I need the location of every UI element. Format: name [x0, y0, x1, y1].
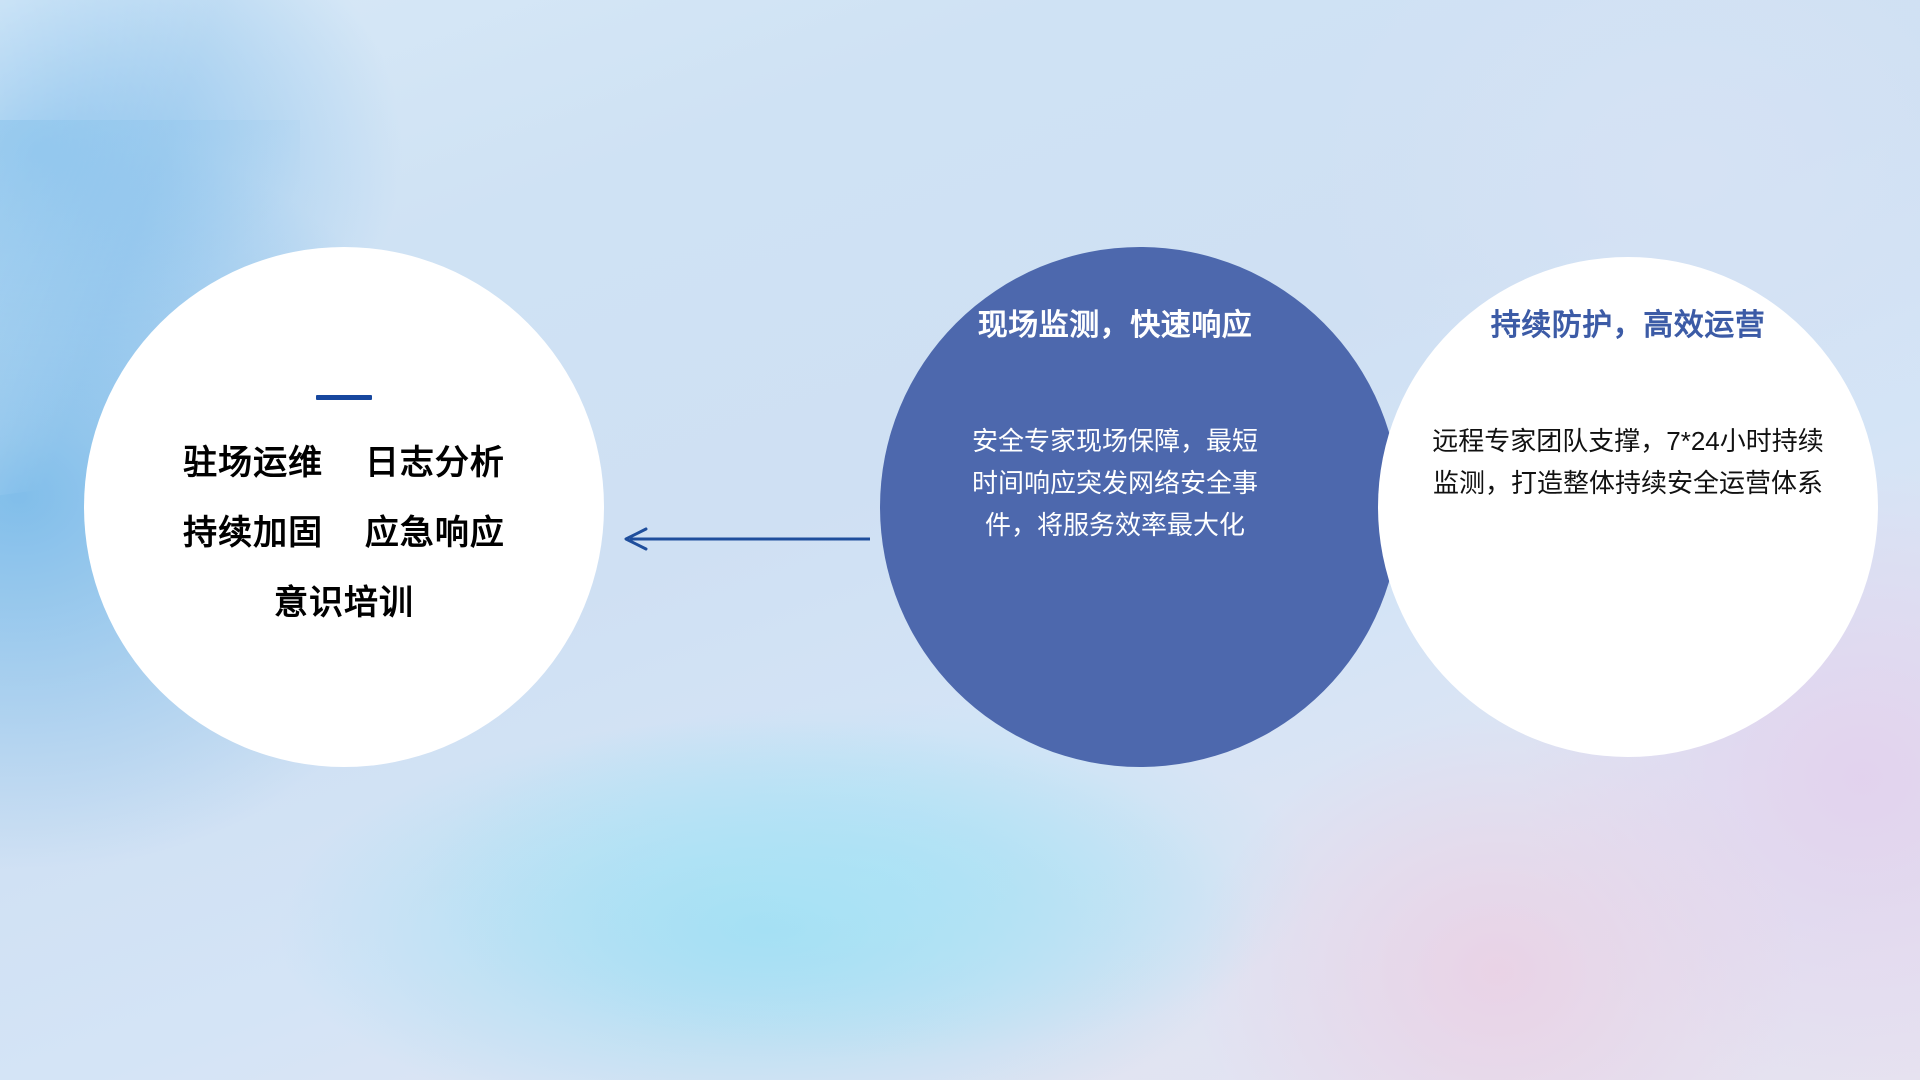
left-circle-line-1: 驻场运维 日志分析 — [183, 446, 505, 480]
left-circle-line-2: 持续加固 应急响应 — [183, 516, 505, 550]
left-divider-dash — [316, 395, 372, 400]
left-circle-content: 驻场运维 日志分析 持续加固 应急响应 意识培训 — [84, 247, 604, 767]
slide-canvas: 驻场运维 日志分析 持续加固 应急响应 意识培训 现场监测，快速响应 安全专家现… — [0, 0, 1920, 1080]
right-circle-content: 持续防护，高效运营 远程专家团队支撑，7*24小时持续监测，打造整体持续安全运营… — [1398, 300, 1858, 504]
center-circle-body: 安全专家现场保障，最短时间响应突发网络安全事件，将服务效率最大化 — [965, 420, 1265, 546]
arrow-left-icon — [612, 525, 872, 553]
right-circle-body: 远程专家团队支撑，7*24小时持续监测，打造整体持续安全运营体系 — [1428, 420, 1828, 504]
right-circle-title: 持续防护，高效运营 — [1398, 300, 1858, 344]
center-circle-content: 现场监测，快速响应 安全专家现场保障，最短时间响应突发网络安全事件，将服务效率最… — [905, 300, 1325, 546]
center-circle-title: 现场监测，快速响应 — [905, 300, 1325, 344]
left-circle-line-3: 意识培训 — [274, 586, 414, 620]
